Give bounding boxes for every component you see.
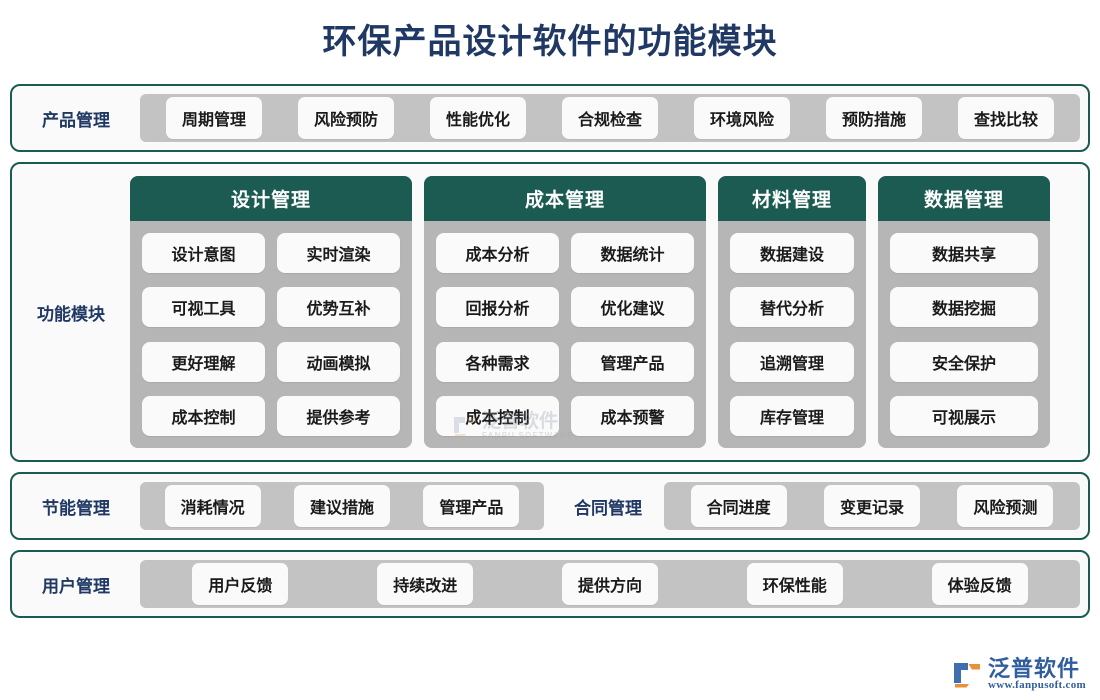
function-cell[interactable]: 优化建议	[571, 287, 694, 327]
section-label-function: 功能模块	[37, 300, 105, 325]
function-cell[interactable]: 可视工具	[142, 287, 265, 327]
contract-item[interactable]: 变更记录	[824, 485, 920, 527]
section-function-modules: 功能模块 设计管理 设计意图 实时渲染 可视工具 优势互补 更好理解 动画模拟 …	[10, 162, 1090, 462]
function-column-material: 材料管理 数据建设 替代分析 追溯管理 库存管理	[718, 176, 866, 448]
logo-url: www.fanpusoft.com	[988, 680, 1086, 692]
user-item[interactable]: 用户反馈	[192, 563, 288, 605]
section-energy-and-contract: 节能管理 消耗情况 建议措施 管理产品 合同管理 合同进度 变更记录 风险预测	[10, 472, 1090, 540]
function-cell[interactable]: 动画模拟	[277, 342, 400, 382]
energy-item[interactable]: 管理产品	[423, 485, 519, 527]
product-item[interactable]: 查找比较	[958, 97, 1054, 139]
function-cell[interactable]: 安全保护	[890, 342, 1038, 382]
function-column-data: 数据管理 数据共享 数据挖掘 安全保护 可视展示	[878, 176, 1050, 448]
function-cell[interactable]: 各种需求	[436, 342, 559, 382]
column-body-design: 设计意图 实时渲染 可视工具 优势互补 更好理解 动画模拟 成本控制 提供参考	[130, 221, 412, 448]
function-cell[interactable]: 库存管理	[730, 396, 854, 436]
product-item[interactable]: 性能优化	[430, 97, 526, 139]
function-cell[interactable]: 回报分析	[436, 287, 559, 327]
infographic-page: 环保产品设计软件的功能模块 产品管理 周期管理 风险预防 性能优化 合规检查 环…	[0, 0, 1100, 700]
product-item[interactable]: 风险预防	[298, 97, 394, 139]
function-cell[interactable]: 追溯管理	[730, 342, 854, 382]
contract-items-band: 合同进度 变更记录 风险预测	[664, 482, 1080, 530]
user-item[interactable]: 持续改进	[377, 563, 473, 605]
product-item[interactable]: 环境风险	[694, 97, 790, 139]
column-header-material: 材料管理	[718, 176, 866, 221]
function-cell[interactable]: 成本分析	[436, 233, 559, 273]
column-header-design: 设计管理	[130, 176, 412, 221]
section-energy-management: 节能管理 消耗情况 建议措施 管理产品	[12, 474, 552, 538]
column-header-cost: 成本管理	[424, 176, 706, 221]
function-cell[interactable]: 设计意图	[142, 233, 265, 273]
fanpu-logo-icon	[952, 661, 982, 689]
column-body-cost: 成本分析 数据统计 回报分析 优化建议 各种需求 管理产品 成本控制 成本预警	[424, 221, 706, 448]
function-cell[interactable]: 数据共享	[890, 233, 1038, 273]
function-cell[interactable]: 数据建设	[730, 233, 854, 273]
contract-item[interactable]: 合同进度	[691, 485, 787, 527]
function-cell[interactable]: 成本预警	[571, 396, 694, 436]
title-bar: 环保产品设计软件的功能模块	[0, 0, 1100, 84]
function-cell[interactable]: 数据挖掘	[890, 287, 1038, 327]
function-cell[interactable]: 成本控制	[142, 396, 265, 436]
product-item[interactable]: 预防措施	[826, 97, 922, 139]
logo-texts: 泛普软件 www.fanpusoft.com	[988, 657, 1086, 692]
function-cell[interactable]: 实时渲染	[277, 233, 400, 273]
page-title: 环保产品设计软件的功能模块	[323, 25, 778, 59]
energy-item[interactable]: 消耗情况	[165, 485, 261, 527]
logo-name: 泛普软件	[988, 657, 1086, 680]
contract-item[interactable]: 风险预测	[957, 485, 1053, 527]
function-cell[interactable]: 成本控制	[436, 396, 559, 436]
section-label-function-cell: 功能模块	[12, 176, 130, 448]
user-item[interactable]: 体验反馈	[932, 563, 1028, 605]
section-label-energy: 节能管理	[12, 494, 140, 519]
section-label-user: 用户管理	[12, 572, 140, 597]
section-label-product: 产品管理	[12, 106, 140, 131]
section-label-contract: 合同管理	[552, 494, 664, 519]
user-item[interactable]: 环保性能	[747, 563, 843, 605]
function-cell[interactable]: 数据统计	[571, 233, 694, 273]
function-cell[interactable]: 优势互补	[277, 287, 400, 327]
column-header-data: 数据管理	[878, 176, 1050, 221]
function-cell[interactable]: 提供参考	[277, 396, 400, 436]
product-item[interactable]: 周期管理	[166, 97, 262, 139]
product-item[interactable]: 合规检查	[562, 97, 658, 139]
section-contract-management: 合同管理 合同进度 变更记录 风险预测	[552, 474, 1088, 538]
user-item[interactable]: 提供方向	[562, 563, 658, 605]
column-body-material: 数据建设 替代分析 追溯管理 库存管理	[718, 221, 866, 448]
energy-items-band: 消耗情况 建议措施 管理产品	[140, 482, 544, 530]
function-cell[interactable]: 可视展示	[890, 396, 1038, 436]
function-cell[interactable]: 更好理解	[142, 342, 265, 382]
function-cell[interactable]: 管理产品	[571, 342, 694, 382]
user-items-band: 用户反馈 持续改进 提供方向 环保性能 体验反馈	[140, 560, 1080, 608]
function-column-cost: 成本管理 成本分析 数据统计 回报分析 优化建议 各种需求 管理产品 成本控制 …	[424, 176, 706, 448]
function-column-design: 设计管理 设计意图 实时渲染 可视工具 优势互补 更好理解 动画模拟 成本控制 …	[130, 176, 412, 448]
function-cell[interactable]: 替代分析	[730, 287, 854, 327]
energy-item[interactable]: 建议措施	[294, 485, 390, 527]
product-items-band: 周期管理 风险预防 性能优化 合规检查 环境风险 预防措施 查找比较	[140, 94, 1080, 142]
section-product-management: 产品管理 周期管理 风险预防 性能优化 合规检查 环境风险 预防措施 查找比较	[10, 84, 1090, 152]
function-columns: 设计管理 设计意图 实时渲染 可视工具 优势互补 更好理解 动画模拟 成本控制 …	[130, 176, 1078, 448]
column-body-data: 数据共享 数据挖掘 安全保护 可视展示	[878, 221, 1050, 448]
section-user-management: 用户管理 用户反馈 持续改进 提供方向 环保性能 体验反馈	[10, 550, 1090, 618]
fanpu-logo: 泛普软件 www.fanpusoft.com	[952, 657, 1086, 692]
